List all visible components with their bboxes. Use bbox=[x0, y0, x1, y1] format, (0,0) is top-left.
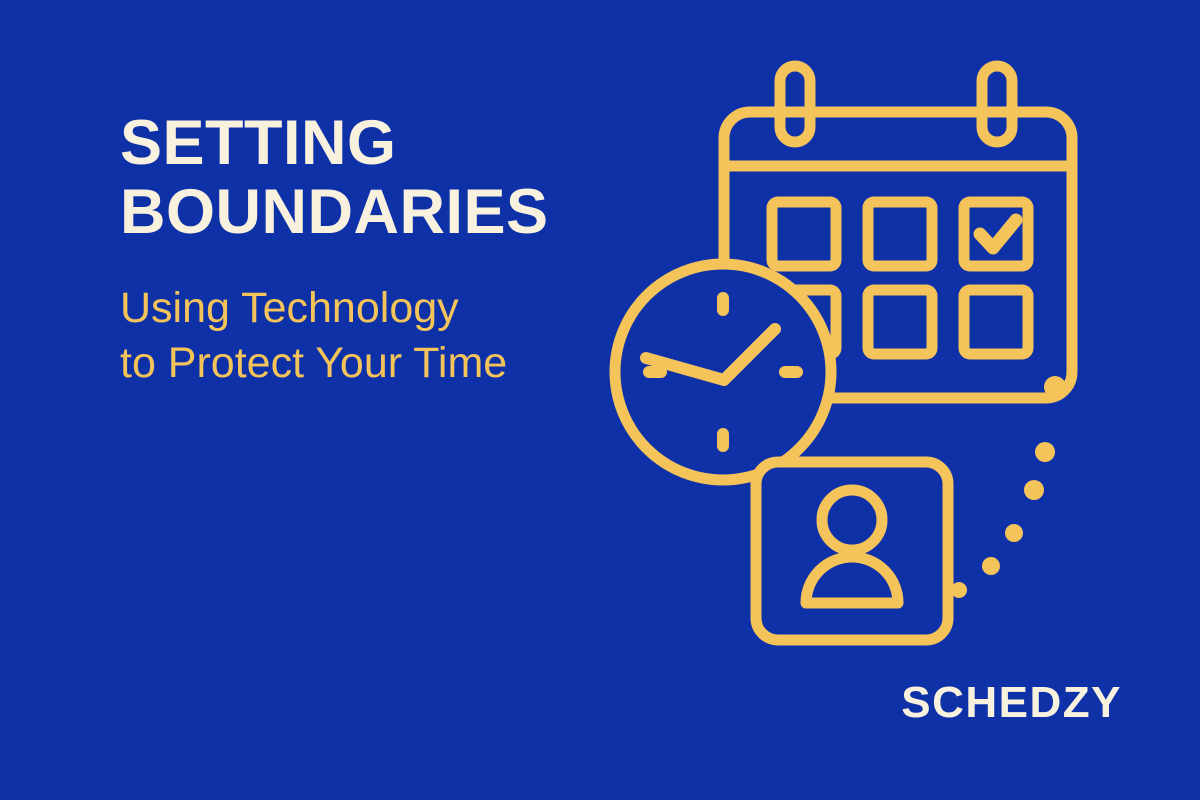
calendar-day-cell-1 bbox=[772, 202, 836, 266]
calendar-day-cell-2 bbox=[868, 202, 932, 266]
calendar-ring-right bbox=[982, 66, 1012, 142]
calendar-day-cell-6 bbox=[964, 290, 1028, 354]
arc-dot-6 bbox=[1044, 376, 1066, 398]
arc-dot-1 bbox=[951, 582, 967, 598]
poster-canvas: SETTING BOUNDARIES Using Technology to P… bbox=[0, 0, 1200, 800]
calendar-checkmark-icon bbox=[980, 220, 1016, 248]
brand-wordmark: SCHEDZY bbox=[901, 678, 1122, 728]
arc-dot-2 bbox=[982, 557, 1000, 575]
calendar-day-cell-5 bbox=[868, 290, 932, 354]
dotted-arc bbox=[951, 376, 1066, 598]
clock-icon bbox=[615, 264, 831, 480]
arc-dot-4 bbox=[1024, 480, 1044, 500]
calendar-ring-left bbox=[780, 66, 810, 142]
illustration-group bbox=[600, 50, 1120, 670]
arc-dot-5 bbox=[1035, 442, 1055, 462]
contact-card-icon bbox=[756, 462, 948, 640]
arc-dot-3 bbox=[1005, 524, 1023, 542]
